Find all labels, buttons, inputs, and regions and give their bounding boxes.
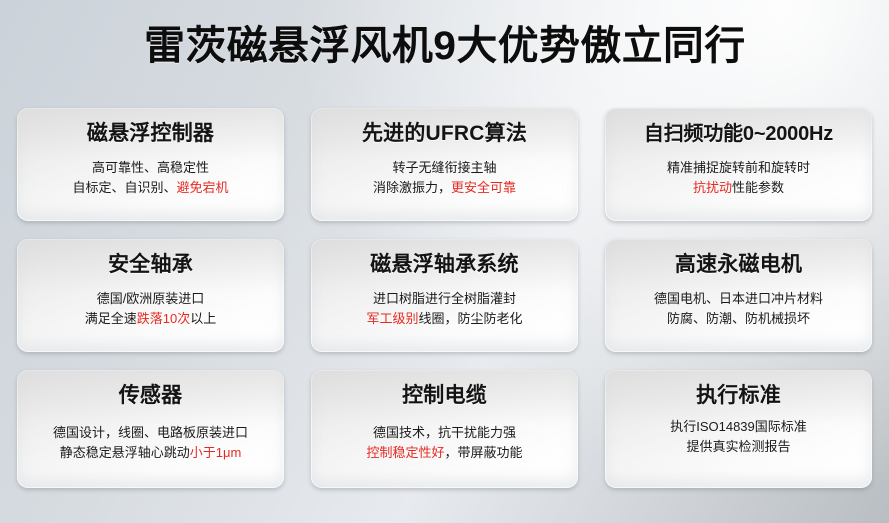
advantage-card-9: 执行标准 执行ISO14839国际标准 提供真实检测报告 xyxy=(605,370,872,488)
advantage-card-9-title: 执行标准 xyxy=(613,381,864,411)
poster-title-container: 雷茨磁悬浮风机9大优势傲立同行 xyxy=(0,22,889,70)
highlight-text: 小于1μm xyxy=(190,445,242,460)
highlight-text: 更安全可靠 xyxy=(451,180,516,195)
advantage-card-2-line-1: 转子无缝衔接主轴 xyxy=(319,158,570,178)
highlight-text: 抗扰动 xyxy=(693,180,732,195)
advantage-card-5-body: 进口树脂进行全树脂灌封 军工级别线圈，防尘防老化 xyxy=(319,289,570,329)
advantage-card-6-title: 高速永磁电机 xyxy=(613,250,864,280)
advantage-card-7-body: 德国设计，线圈、电路板原装进口 静态稳定悬浮轴心跳动小于1μm xyxy=(25,423,276,463)
advantage-card-8-line-1: 德国技术，抗干扰能力强 xyxy=(319,423,570,443)
advantage-card-7-line-1: 德国设计，线圈、电路板原装进口 xyxy=(25,423,276,443)
text-plain: 消除激振力， xyxy=(373,180,451,195)
advantage-card-4: 安全轴承 德国/欧洲原装进口 满足全速跌落10次以上 xyxy=(17,239,284,352)
text-plain: 自标定、自识别、 xyxy=(72,180,176,195)
advantage-card-3-line-1: 精准捕捉旋转前和旋转时 xyxy=(613,158,864,178)
advantage-card-1-line-1: 高可靠性、高稳定性 xyxy=(25,158,276,178)
advantage-card-8: 控制电缆 德国技术，抗干扰能力强 控制稳定性好，带屏蔽功能 xyxy=(311,370,578,488)
text-plain-tail: 线圈，防尘防老化 xyxy=(419,311,523,326)
advantage-card-7-title: 传感器 xyxy=(25,381,276,411)
advantage-card-9-body: 执行ISO14839国际标准 提供真实检测报告 xyxy=(613,417,864,457)
highlight-text: 跌落10次 xyxy=(137,311,190,326)
advantage-card-6-line-2: 防腐、防潮、防机械损坏 xyxy=(613,309,864,329)
advantage-card-8-line-2: 控制稳定性好，带屏蔽功能 xyxy=(319,443,570,463)
advantage-card-3-line-2: 抗扰动性能参数 xyxy=(613,178,864,198)
poster-background: 雷茨磁悬浮风机9大优势傲立同行 磁悬浮控制器 高可靠性、高稳定性 自标定、自识别… xyxy=(0,0,889,523)
text-plain: 静态稳定悬浮轴心跳动 xyxy=(60,445,190,460)
advantage-card-5-title: 磁悬浮轴承系统 xyxy=(319,250,570,280)
advantage-card-1-title: 磁悬浮控制器 xyxy=(25,119,276,149)
text-plain: 防腐、防潮、防机械损坏 xyxy=(667,311,810,326)
advantage-card-8-body: 德国技术，抗干扰能力强 控制稳定性好，带屏蔽功能 xyxy=(319,423,570,463)
advantage-card-6-body: 德国电机、日本进口冲片材料 防腐、防潮、防机械损坏 xyxy=(613,289,864,329)
highlight-text: 控制稳定性好 xyxy=(366,445,444,460)
advantage-card-2-title: 先进的UFRC算法 xyxy=(319,119,570,149)
advantage-card-7: 传感器 德国设计，线圈、电路板原装进口 静态稳定悬浮轴心跳动小于1μm xyxy=(17,370,284,488)
advantage-card-4-line-1: 德国/欧洲原装进口 xyxy=(25,289,276,309)
advantage-card-7-line-2: 静态稳定悬浮轴心跳动小于1μm xyxy=(25,443,276,463)
text-plain: 提供真实检测报告 xyxy=(686,439,790,454)
advantage-card-5: 磁悬浮轴承系统 进口树脂进行全树脂灌封 军工级别线圈，防尘防老化 xyxy=(311,239,578,352)
text-plain-tail: 性能参数 xyxy=(732,180,784,195)
advantage-card-4-title: 安全轴承 xyxy=(25,250,276,280)
text-plain-tail: ，带屏蔽功能 xyxy=(445,445,523,460)
advantage-card-2-line-2: 消除激振力，更安全可靠 xyxy=(319,178,570,198)
highlight-text: 军工级别 xyxy=(366,311,418,326)
page-title: 雷茨磁悬浮风机9大优势傲立同行 xyxy=(144,22,746,70)
advantage-card-5-line-2: 军工级别线圈，防尘防老化 xyxy=(319,309,570,329)
advantage-card-grid: 磁悬浮控制器 高可靠性、高稳定性 自标定、自识别、避免宕机 先进的UFRC算法 … xyxy=(17,108,873,488)
advantage-card-2-body: 转子无缝衔接主轴 消除激振力，更安全可靠 xyxy=(319,158,570,198)
text-plain: 满足全速 xyxy=(85,311,137,326)
advantage-card-3-title: 自扫频功能0~2000Hz xyxy=(613,119,864,149)
advantage-card-9-line-1: 执行ISO14839国际标准 xyxy=(613,417,864,437)
advantage-card-1: 磁悬浮控制器 高可靠性、高稳定性 自标定、自识别、避免宕机 xyxy=(17,108,284,221)
advantage-card-9-line-2: 提供真实检测报告 xyxy=(613,437,864,457)
advantage-card-6-line-1: 德国电机、日本进口冲片材料 xyxy=(613,289,864,309)
highlight-text: 避免宕机 xyxy=(177,180,229,195)
advantage-card-6: 高速永磁电机 德国电机、日本进口冲片材料 防腐、防潮、防机械损坏 xyxy=(605,239,872,352)
advantage-card-1-body: 高可靠性、高稳定性 自标定、自识别、避免宕机 xyxy=(25,158,276,198)
advantage-card-1-line-2: 自标定、自识别、避免宕机 xyxy=(25,178,276,198)
advantage-card-2: 先进的UFRC算法 转子无缝衔接主轴 消除激振力，更安全可靠 xyxy=(311,108,578,221)
advantage-card-8-title: 控制电缆 xyxy=(319,381,570,411)
text-plain-tail: 以上 xyxy=(190,311,216,326)
advantage-card-3-body: 精准捕捉旋转前和旋转时 抗扰动性能参数 xyxy=(613,158,864,198)
advantage-card-3: 自扫频功能0~2000Hz 精准捕捉旋转前和旋转时 抗扰动性能参数 xyxy=(605,108,872,221)
advantage-card-4-line-2: 满足全速跌落10次以上 xyxy=(25,309,276,329)
advantage-card-4-body: 德国/欧洲原装进口 满足全速跌落10次以上 xyxy=(25,289,276,329)
advantage-card-5-line-1: 进口树脂进行全树脂灌封 xyxy=(319,289,570,309)
